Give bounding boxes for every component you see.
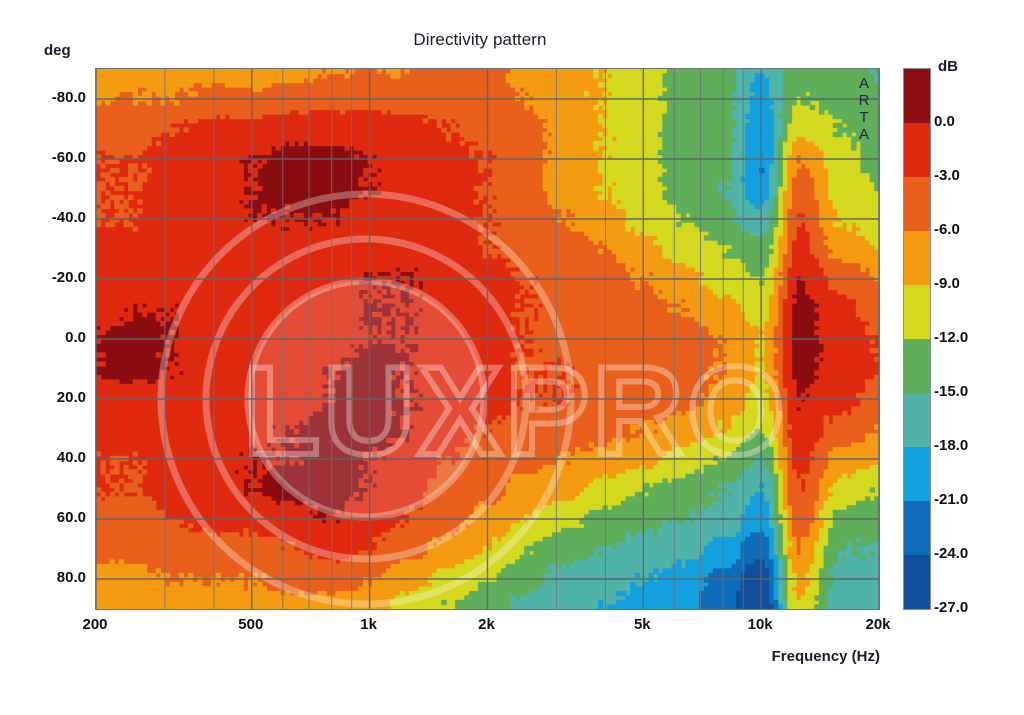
colorbar-band — [904, 285, 930, 339]
directivity-heatmap — [96, 69, 879, 609]
colorbar-band — [904, 555, 930, 609]
colorbar-tick-label: -18.0 — [934, 437, 1018, 454]
colorbar-tick-label: -9.0 — [934, 275, 1018, 292]
colorbar-band — [904, 339, 930, 393]
colorbar-band — [904, 501, 930, 555]
x-tick-label: 200 — [60, 616, 130, 633]
colorbar-tick-label: -27.0 — [934, 599, 1018, 616]
arta-letter-r: R — [855, 92, 873, 109]
y-tick-label: 60.0 — [8, 509, 86, 526]
arta-logo: A R T A — [855, 75, 873, 143]
x-axis-title: Frequency (Hz) — [640, 648, 880, 665]
colorbar-tick-label: -21.0 — [934, 491, 1018, 508]
y-tick-label: -40.0 — [8, 209, 86, 226]
colorbar-tick-label: -24.0 — [934, 545, 1018, 562]
colorbar-band — [904, 123, 930, 177]
y-axis-unit-label: deg — [44, 42, 71, 59]
x-tick-label: 2k — [452, 616, 522, 633]
x-tick-label: 500 — [216, 616, 286, 633]
x-tick-label: 20k — [843, 616, 913, 633]
colorbar-band — [904, 69, 930, 123]
x-tick-label: 5k — [607, 616, 677, 633]
arta-letter-a1: A — [855, 75, 873, 92]
y-tick-label: -60.0 — [8, 149, 86, 166]
colorbar-tick-label: -15.0 — [934, 383, 1018, 400]
y-tick-label: 0.0 — [8, 329, 86, 346]
page-title: Directivity pattern — [0, 30, 960, 50]
color-scale-legend — [903, 68, 931, 610]
y-axis-ticks: -80.0-60.0-40.0-20.00.020.040.060.080.0 — [0, 68, 86, 608]
y-tick-label: 20.0 — [8, 389, 86, 406]
colorbar-band — [904, 177, 930, 231]
y-tick-label: -80.0 — [8, 89, 86, 106]
colorbar-band — [904, 447, 930, 501]
x-tick-label: 1k — [334, 616, 404, 633]
colorbar-tick-label: 0.0 — [934, 113, 1018, 130]
y-tick-label: 80.0 — [8, 569, 86, 586]
colorbar-tick-label: -12.0 — [934, 329, 1018, 346]
x-tick-label: 10k — [725, 616, 795, 633]
y-tick-label: 40.0 — [8, 449, 86, 466]
colorbar-band — [904, 393, 930, 447]
directivity-chart-window: Directivity pattern deg -80.0-60.0-40.0-… — [0, 0, 1024, 715]
colorbar-tick-label: -3.0 — [934, 167, 1018, 184]
x-axis-ticks: 2005001k2k5k10k20k — [95, 616, 878, 646]
colorbar-tick-label: -6.0 — [934, 221, 1018, 238]
arta-letter-a2: A — [855, 126, 873, 143]
arta-letter-t: T — [855, 109, 873, 126]
heatmap-plot-area[interactable]: LUXPRO A R T A — [95, 68, 880, 610]
colorbar-tick-labels: 0.0-3.0-6.0-9.0-12.0-15.0-18.0-21.0-24.0… — [934, 68, 1018, 608]
colorbar-band — [904, 231, 930, 285]
y-tick-label: -20.0 — [8, 269, 86, 286]
